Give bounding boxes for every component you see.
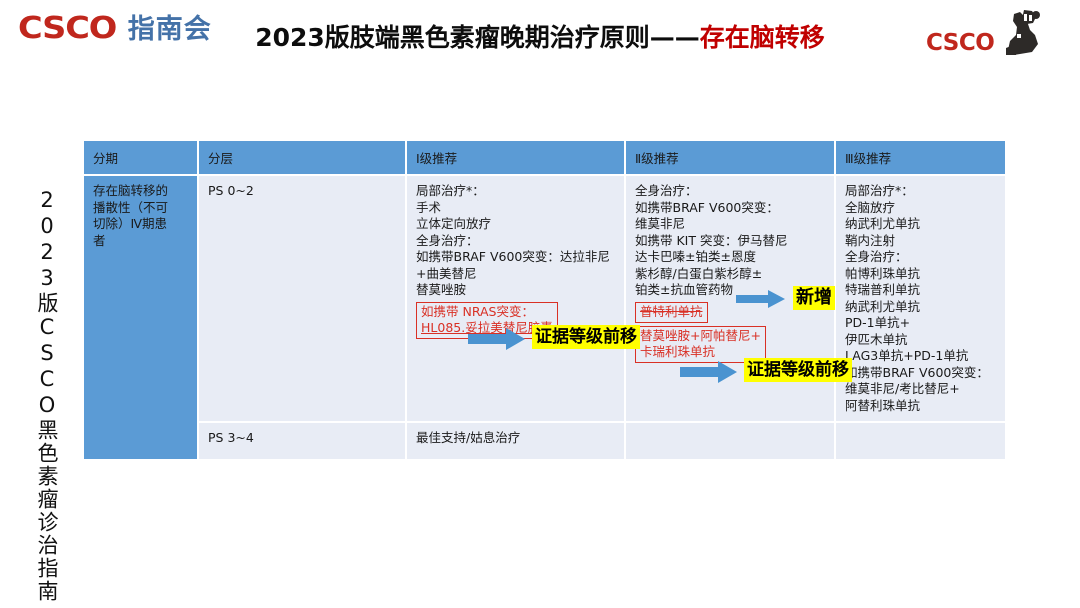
level1-nras-annotation-box: 如携带 NRAS突变： HL085.妥拉美替尼胶囊 [416,302,558,339]
level2-line: 如携带BRAF V600突变： [635,200,825,217]
page-title-plain: 2023版肢端黑色素瘤晚期治疗原则—— [255,23,700,52]
level3-line: 特瑞普利单抗 [845,282,996,299]
cell-level2-ps34 [625,422,835,459]
level2-line: 紫杉醇/白蛋白紫杉醇± [635,266,825,283]
level1-line: 立体定向放疗 [416,216,615,233]
cell-level1-recommendations: 局部治疗*： 手术 立体定向放疗 全身治疗： 如携带BRAF V600突变：达拉… [406,175,625,422]
level2-line: 维莫非尼 [635,216,825,233]
level1-line: 局部治疗*： [416,183,615,200]
stage-line: 播散性（不可 [93,200,188,217]
combo-annotation-line: 卡瑞利珠单抗 [640,344,761,360]
level3-line: 如携带BRAF V600突变： [845,365,996,382]
cell-level3-ps34 [835,422,1005,459]
recommendation-table: 分期 分层 Ⅰ级推荐 Ⅱ级推荐 Ⅲ级推荐 存在脑转移的 播散性（不可 切除）Ⅳ期… [84,141,1005,459]
cell-level3-recommendations: 局部治疗*： 全脑放疗 纳武利尤单抗 鞘内注射 全身治疗： 帕博利珠单抗 特瑞普… [835,175,1005,422]
column-header-stage: 分期 [84,141,198,175]
level3-line: 全身治疗： [845,249,996,266]
level3-line: 全脑放疗 [845,200,996,217]
level1-line: 如携带BRAF V600突变：达拉非尼 [416,249,615,266]
page-title-accent: 存在脑转移 [700,23,825,52]
column-header-level2: Ⅱ级推荐 [625,141,835,175]
cell-layer-ps02: PS 0~2 [198,175,406,422]
csco-brand-wordmark: CSCO [926,30,994,56]
layer-value: PS 3~4 [208,430,396,447]
level3-line: 伊匹木单抗 [845,332,996,349]
vertical-guideline-label: 2023版CSCO黑色素瘤诊治指南 [28,188,66,508]
level1-line: 替莫唑胺 [416,282,615,299]
layer-value: PS 0~2 [208,183,396,200]
cell-stage: 存在脑转移的 播散性（不可 切除）Ⅳ期患 者 [84,175,198,459]
column-header-level3: Ⅲ级推荐 [835,141,1005,175]
stage-line: 切除）Ⅳ期患 [93,216,188,233]
level3-line: 局部治疗*： [845,183,996,200]
level2-line: 如携带 KIT 突变：伊马替尼 [635,233,825,250]
level2-combo-annotation-box: 替莫唑胺+阿帕替尼+ 卡瑞利珠单抗 [635,326,766,363]
stage-line: 者 [93,233,188,250]
cell-layer-ps34: PS 3~4 [198,422,406,459]
csco-brand-logo: CSCO [924,8,1054,60]
level1-line: 手术 [416,200,615,217]
level3-line: LAG3单抗+PD-1单抗 [845,348,996,365]
nras-annotation-line: 如携带 NRAS突变： [421,304,553,320]
page-header: CSCO 指南会 2023版肢端黑色素瘤晚期治疗原则——存在脑转移 CSCO [0,0,1080,66]
level3-line: 纳武利尤单抗 [845,216,996,233]
stage-line: 存在脑转移的 [93,183,188,200]
page-title: 2023版肢端黑色素瘤晚期治疗原则——存在脑转移 [0,18,1080,54]
level2-line: 全身治疗： [635,183,825,200]
table-header-row: 分期 分层 Ⅰ级推荐 Ⅱ级推荐 Ⅲ级推荐 [84,141,1005,175]
table-row: PS 3~4 最佳支持/姑息治疗 [84,422,1005,459]
nras-annotation-line: HL085.妥拉美替尼胶囊 [421,320,553,336]
column-header-layer: 分层 [198,141,406,175]
cell-level2-recommendations: 全身治疗： 如携带BRAF V600突变： 维莫非尼 如携带 KIT 突变：伊马… [625,175,835,422]
level1-line: 全身治疗： [416,233,615,250]
level3-line: 帕博利珠单抗 [845,266,996,283]
column-header-level1: Ⅰ级推荐 [406,141,625,175]
level2-putelizumab-annotation-box: 普特利单抗 [635,302,708,323]
level3-line: 纳武利尤单抗 [845,299,996,316]
level3-line: 阿替利珠单抗 [845,398,996,415]
putelizumab-annotation-line: 普特利单抗 [640,304,703,320]
level3-line: PD-1单抗+ [845,315,996,332]
level2-line: 达卡巴嗪±铂类±恩度 [635,249,825,266]
recommendation-table-wrapper: 分期 分层 Ⅰ级推荐 Ⅱ级推荐 Ⅲ级推荐 存在脑转移的 播散性（不可 切除）Ⅳ期… [84,141,1005,459]
level1-line: 最佳支持/姑息治疗 [416,430,615,447]
table-row: 存在脑转移的 播散性（不可 切除）Ⅳ期患 者 PS 0~2 局部治疗*： 手术 … [84,175,1005,422]
level1-line: +曲美替尼 [416,266,615,283]
level3-line: 维莫非尼/考比替尼+ [845,381,996,398]
combo-annotation-line: 替莫唑胺+阿帕替尼+ [640,328,761,344]
cell-level1-ps34: 最佳支持/姑息治疗 [406,422,625,459]
level2-line: 铂类±抗血管药物 [635,282,825,299]
csco-statue-icon [986,8,1048,58]
level3-line: 鞘内注射 [845,233,996,250]
